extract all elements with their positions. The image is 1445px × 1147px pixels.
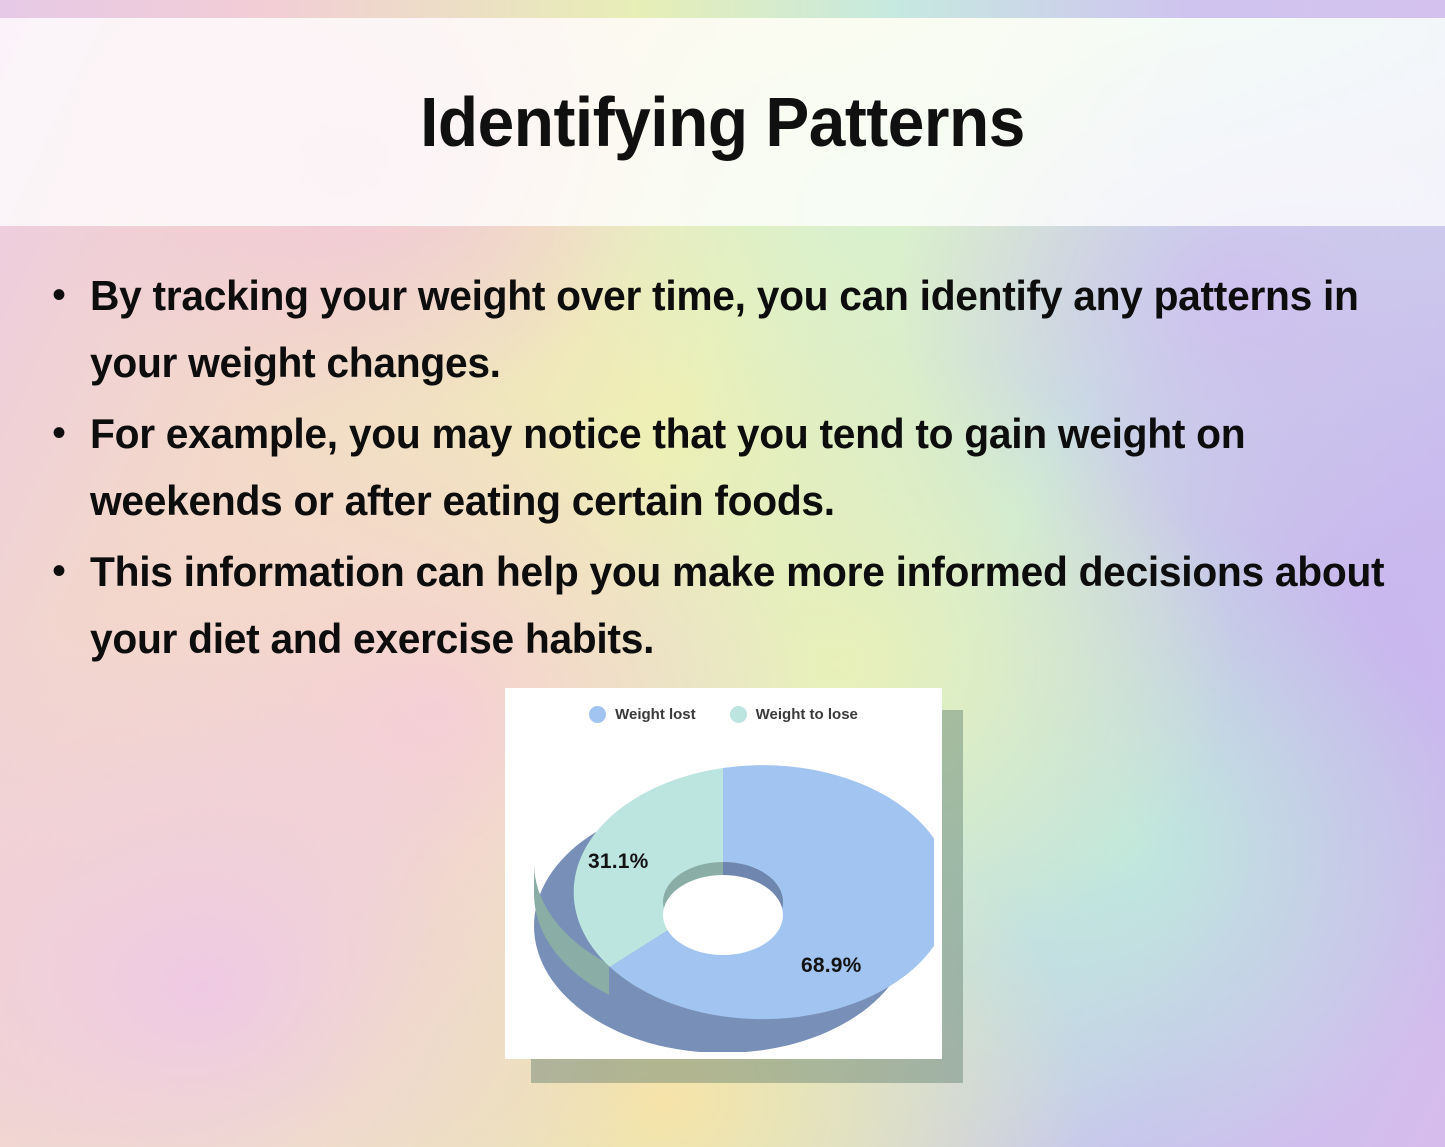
bullet-text: By tracking your weight over time, you c… bbox=[90, 262, 1392, 396]
chart-legend: Weight lost Weight to lose bbox=[505, 698, 942, 730]
slice-value-label-weight-to-lose: 31.1% bbox=[588, 850, 649, 874]
bullet-text: This information can help you make more … bbox=[90, 538, 1392, 672]
donut-chart: 31.1% 68.9% bbox=[513, 730, 934, 1052]
legend-swatch-icon bbox=[730, 706, 747, 723]
list-item: • For example, you may notice that you t… bbox=[52, 400, 1432, 534]
legend-label: Weight lost bbox=[615, 706, 696, 723]
bullet-marker-icon: • bbox=[52, 262, 90, 328]
list-item: • By tracking your weight over time, you… bbox=[52, 262, 1432, 396]
bullet-marker-icon: • bbox=[52, 538, 90, 604]
bullet-marker-icon: • bbox=[52, 400, 90, 466]
slice-value-label-weight-lost: 68.9% bbox=[801, 954, 862, 978]
legend-item-weight-lost[interactable]: Weight lost bbox=[589, 706, 696, 723]
slide-canvas: Identifying Patterns • By tracking your … bbox=[0, 0, 1445, 1147]
bullet-text: For example, you may notice that you ten… bbox=[90, 400, 1392, 534]
donut-inner-wall bbox=[663, 862, 783, 955]
donut-chart-svg bbox=[513, 730, 934, 1052]
top-accent-strip bbox=[0, 0, 1445, 18]
legend-item-weight-to-lose[interactable]: Weight to lose bbox=[730, 706, 858, 723]
page-title: Identifying Patterns bbox=[43, 18, 1401, 226]
legend-label: Weight to lose bbox=[756, 706, 858, 723]
legend-swatch-icon bbox=[589, 706, 606, 723]
bullet-list: • By tracking your weight over time, you… bbox=[52, 262, 1432, 676]
pie-chart-card: Weight lost Weight to lose bbox=[505, 688, 942, 1059]
list-item: • This information can help you make mor… bbox=[52, 538, 1432, 672]
